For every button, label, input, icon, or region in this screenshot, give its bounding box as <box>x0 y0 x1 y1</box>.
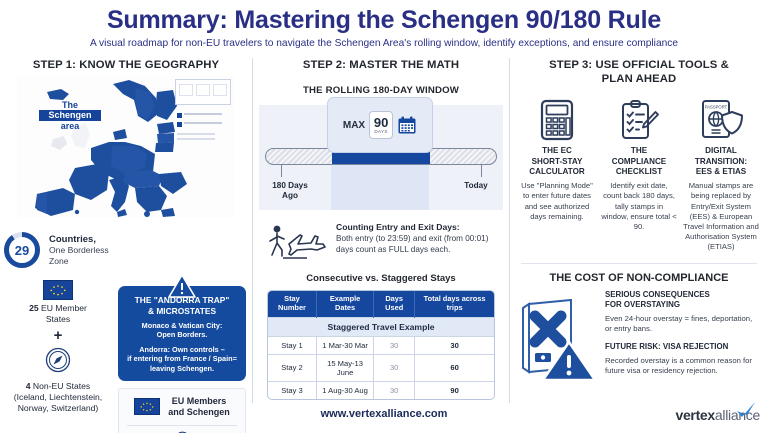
rejected-passport-icon <box>517 290 599 382</box>
tool3-title-3: EES & ETIAS <box>696 167 746 176</box>
andorra-title-2: & MICROSTATES <box>148 306 216 316</box>
map-label-line1: The <box>39 100 101 110</box>
cost-block1-body: Even 24-hour overstay = fines, deportati… <box>605 314 761 335</box>
consecutive-staggered-title: Consecutive vs. Staggered Stays <box>259 273 503 284</box>
page-subtitle: A visual roadmap for non-EU travelers to… <box>0 38 768 49</box>
map-legend-box <box>175 79 231 105</box>
andorra-body-2: Andorra: Own controls – if entering from… <box>125 345 239 373</box>
traveler-plane-icon <box>267 222 329 262</box>
tool-digital-title: DIGITAL TRANSITION: EES & ETIAS <box>683 146 759 177</box>
cell-dates: 1 Mar-30 Mar <box>316 336 373 354</box>
calculator-icon-wrap <box>519 98 595 142</box>
warning-triangle-icon <box>167 273 197 299</box>
calculator-icon <box>540 99 574 141</box>
clipboard-checklist-icon <box>618 99 660 141</box>
tool2-title-3: CHECKLIST <box>616 167 662 176</box>
counting-line-2: days count as FULL days each. <box>336 245 488 256</box>
map-label-line3: area <box>39 121 101 131</box>
countries-ring-chart: 29 <box>2 230 42 270</box>
andorra-body-2c: leaving Schengen. <box>150 364 214 373</box>
brand-logo: vertexalliance <box>675 407 760 423</box>
countries-sub-2: Zone <box>49 256 109 266</box>
table-row: Stay 2 15 May-13 June 30 60 <box>268 354 494 381</box>
columns-container: STEP 1: KNOW THE GEOGRAPHY <box>0 58 768 403</box>
col-example-dates: Example Dates <box>316 291 373 317</box>
checklist-icon-wrap <box>601 98 677 142</box>
table-row: Stay 3 1 Aug-30 Aug 30 90 <box>268 381 494 399</box>
tool2-title-1: THE <box>631 146 647 155</box>
cell-total: 30 <box>415 336 494 354</box>
cell-dates: 1 Aug-30 Aug <box>316 381 373 399</box>
page-title: Summary: Mastering the Schengen 90/180 R… <box>0 6 768 34</box>
column-step2: STEP 2: MASTER THE MATH THE ROLLING 180-… <box>252 58 510 403</box>
table-caption-row: Staggered Travel Example <box>268 317 494 336</box>
cell-days-used: 30 <box>374 354 415 381</box>
tool-calculator: THE EC SHORT-STAY CALCULATOR Use "Planni… <box>517 98 597 252</box>
non-eu-list-1: (Iceland, Liechtenstein, <box>14 392 102 402</box>
map-label-line2: Schengen <box>39 110 101 120</box>
timeline-tick-left <box>281 165 282 177</box>
brand-bold: vertex <box>675 407 714 423</box>
countries-title: Countries, <box>49 234 109 245</box>
column-step3: STEP 3: USE OFFICIAL TOOLS & PLAN AHEAD <box>510 58 768 403</box>
rolling-window-title: THE ROLLING 180-DAY WINDOW <box>259 85 503 96</box>
days-number: 90 <box>374 116 388 129</box>
tool1-title-2: SHORT-STAY <box>532 157 583 166</box>
counting-title: Counting Entry and Exit Days: <box>336 222 488 232</box>
cell-stay: Stay 3 <box>268 381 316 399</box>
tool2-title-2: COMPLIANCE <box>612 157 666 166</box>
table-body: Stay 1 1 Mar-30 Mar 30 30 Stay 2 15 May-… <box>268 336 494 399</box>
col-total-days: Total days across trips <box>415 291 494 317</box>
map-legend-list <box>177 112 229 143</box>
tool1-title-1: THE EC <box>542 146 572 155</box>
table-header-row: Stay Number Example Dates Days Used Tota… <box>268 291 494 317</box>
col-days-used: Days Used <box>374 291 415 317</box>
cell-total: 90 <box>415 381 494 399</box>
column-step1: STEP 1: KNOW THE GEOGRAPHY <box>0 58 252 403</box>
table-caption: Staggered Travel Example <box>268 317 494 336</box>
countries-count: 29 <box>2 230 42 270</box>
cost-block1-title: SERIOUS CONSEQUENCES FOR OVERSTAYING <box>605 290 761 311</box>
table-head: Stay Number Example Dates Days Used Tota… <box>268 291 494 317</box>
infographic-page: Summary: Mastering the Schengen 90/180 R… <box>0 0 768 433</box>
tool3-title-1: DIGITAL <box>705 146 737 155</box>
eu-label: EU Member <box>39 303 87 313</box>
andorra-body-2b: if entering from France / Spain= <box>127 354 237 363</box>
cell-total: 60 <box>415 354 494 381</box>
andorra-body-2a: Andorra: Own controls – <box>139 345 225 354</box>
footer-url[interactable]: www.vertexalliance.com <box>0 408 768 420</box>
cost-icon-wrap <box>517 290 599 382</box>
max-days-callout: MAX 90 DAYS <box>327 97 433 153</box>
andorra-body-1a: Monaco & Vatican City: <box>142 321 223 330</box>
counting-line-1: Both entry (to 23:59) and exit (from 00:… <box>336 234 488 245</box>
section-divider <box>521 263 757 264</box>
step3-heading: STEP 3: USE OFFICIAL TOOLS & PLAN AHEAD <box>517 58 761 86</box>
countries-stat: 29 Countries, One Borderless Zone <box>2 230 114 270</box>
staggered-travel-table-wrapper: Staggered Travel Example Stay Number Exa… <box>267 290 495 400</box>
counting-days-text: Counting Entry and Exit Days: Both entry… <box>336 222 488 256</box>
window-left-label: 180 Days Ago <box>265 181 315 201</box>
andorra-trap-card: THE "ANDORRA TRAP" & MICROSTATES Monaco … <box>118 286 246 381</box>
geography-stats: 29 Countries, One Borderless Zone <box>2 230 114 414</box>
table-row: Stay 1 1 Mar-30 Mar 30 30 <box>268 336 494 354</box>
step2-heading: STEP 2: MASTER THE MATH <box>259 58 503 72</box>
cell-days-used: 30 <box>374 336 415 354</box>
countries-sub-1: One Borderless <box>49 245 109 255</box>
days-badge: 90 DAYS <box>369 111 393 139</box>
window-right-label: Today <box>453 181 499 191</box>
step3-heading-2: PLAN AHEAD <box>602 73 677 85</box>
cell-stay: Stay 2 <box>268 354 316 381</box>
tool-checklist-body: Identify exit date, count back 180 days,… <box>601 181 677 232</box>
cost-block2-title: FUTURE RISK: VISA REJECTION <box>605 342 761 352</box>
tool-checklist-title: THE COMPLIANCE CHECKLIST <box>601 146 677 177</box>
plus-separator: + <box>2 327 114 344</box>
tool-calculator-body: Use "Planning Mode" to enter future date… <box>519 181 595 222</box>
cost-block1-title-2: FOR OVERSTAYING <box>605 300 680 309</box>
col-stay-number: Stay Number <box>268 291 316 317</box>
cost-heading: THE COST OF NON-COMPLIANCE <box>517 272 761 284</box>
eu-count: 25 <box>29 303 39 313</box>
step3-heading-1: STEP 3: USE OFFICIAL TOOLS & <box>549 59 729 71</box>
cell-days-used: 30 <box>374 381 415 399</box>
header: Summary: Mastering the Schengen 90/180 R… <box>0 0 768 49</box>
map-title-label: The Schengen area <box>39 100 101 131</box>
eu-label2: States <box>46 314 70 324</box>
countries-caption: Countries, One Borderless Zone <box>49 234 109 265</box>
cell-dates: 15 May-13 June <box>316 354 373 381</box>
tool-digital-body: Manual stamps are being replaced by Entr… <box>683 181 759 252</box>
tool1-title-3: CALCULATOR <box>529 167 584 176</box>
cost-block2-body: Recorded overstay is a common reason for… <box>605 356 761 377</box>
cost-block: SERIOUS CONSEQUENCES FOR OVERSTAYING Eve… <box>517 290 761 384</box>
eu-member-caption: 25 EU Member States <box>2 303 114 324</box>
tool-digital-transition: PASSPORT DIGITAL TRANSITION: EES & ETIAS… <box>681 98 761 252</box>
andorra-body-1: Monaco & Vatican City: Open Borders. <box>125 321 239 340</box>
compass-icon <box>45 347 71 373</box>
calendar-icon <box>397 115 417 135</box>
window-left-label-1: 180 Days <box>272 181 308 190</box>
window-left-label-2: Ago <box>282 191 298 200</box>
timeline-tick-right <box>481 165 482 177</box>
cost-block1-title-1: SERIOUS CONSEQUENCES <box>605 290 710 299</box>
staggered-travel-table: Staggered Travel Example Stay Number Exa… <box>268 291 494 399</box>
passport-stamp-label: PASSPORT <box>705 105 728 110</box>
tool-checklist: THE COMPLIANCE CHECKLIST Identify exit d… <box>599 98 679 252</box>
eu-flag-icon <box>43 280 73 300</box>
max-label: MAX <box>343 120 365 131</box>
counting-days-block: Counting Entry and Exit Days: Both entry… <box>267 222 497 262</box>
cost-text-wrap: SERIOUS CONSEQUENCES FOR OVERSTAYING Eve… <box>605 290 761 384</box>
andorra-body-1b: Open Borders. <box>157 330 208 339</box>
tool3-title-2: TRANSITION: <box>695 157 747 166</box>
days-unit: DAYS <box>374 130 387 135</box>
passport-shield-icon: PASSPORT <box>699 99 743 141</box>
footer: www.vertexalliance.com vertexalliance <box>0 405 768 429</box>
step1-heading: STEP 1: KNOW THE GEOGRAPHY <box>6 58 246 72</box>
cell-stay: Stay 1 <box>268 336 316 354</box>
checkmark-swoosh-icon <box>736 402 756 418</box>
tools-row: THE EC SHORT-STAY CALCULATOR Use "Planni… <box>517 98 761 252</box>
rolling-window-diagram: MAX 90 DAYS <box>259 105 503 210</box>
schengen-map: The Schengen area <box>17 76 235 218</box>
passport-icon-wrap: PASSPORT <box>683 98 759 142</box>
non-eu-label: Non-EU States <box>31 381 91 391</box>
tool-calculator-title: THE EC SHORT-STAY CALCULATOR <box>519 146 595 177</box>
